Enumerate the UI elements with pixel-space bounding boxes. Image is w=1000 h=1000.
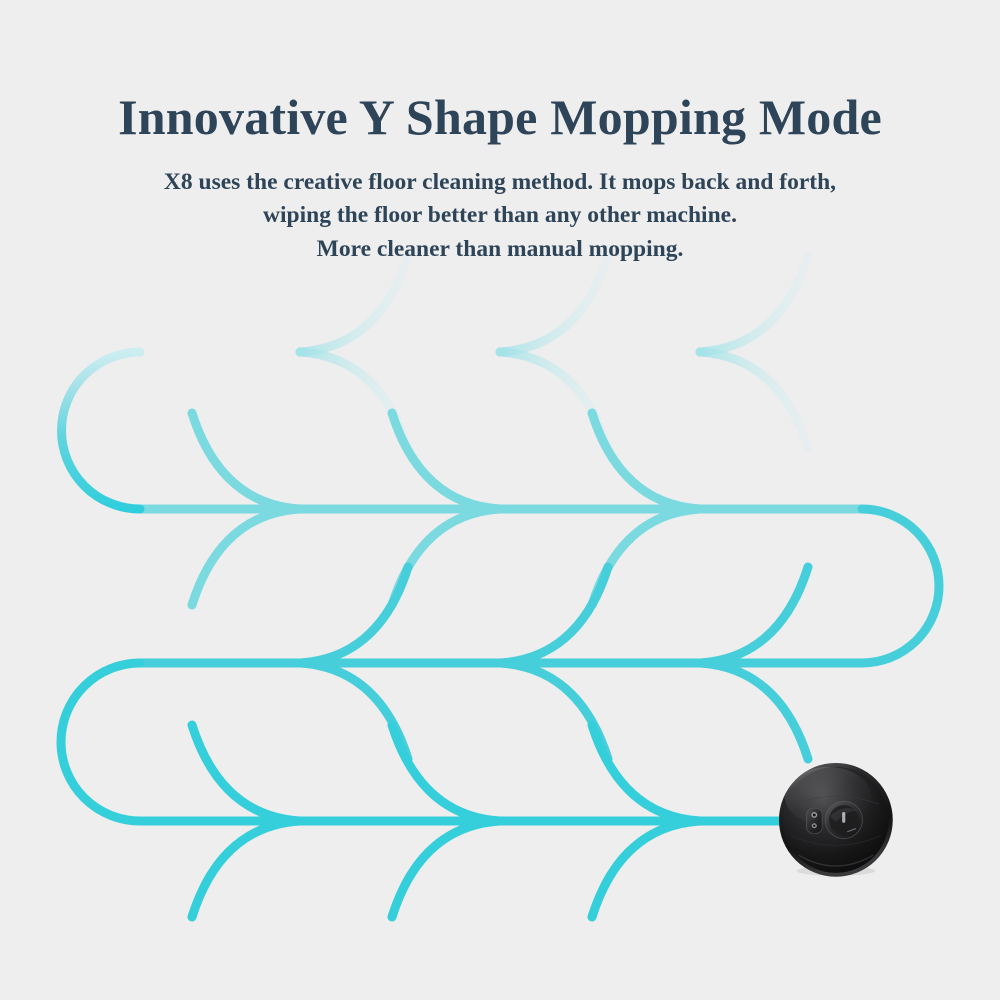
sensor-dot-upper-pupil bbox=[813, 814, 816, 817]
subtitle-line-2: wiping the floor better than any other m… bbox=[0, 199, 1000, 232]
text-block: Innovative Y Shape Mopping Mode X8 uses … bbox=[0, 0, 1000, 266]
y-branch-row-4-1-up bbox=[192, 725, 300, 821]
y-branch-row-3-2-up bbox=[500, 567, 608, 663]
subtitle-line-1: X8 uses the creative floor cleaning meth… bbox=[0, 166, 1000, 199]
y-branch-row-4-3-down bbox=[592, 821, 700, 917]
y-branch-row-1-2-up bbox=[500, 256, 608, 352]
y-branch-row-4-2-up bbox=[392, 725, 500, 821]
turn-right-1 bbox=[862, 509, 939, 663]
y-branch-row-3-3-down bbox=[700, 663, 808, 759]
y-branch-row-3-1-down bbox=[300, 663, 408, 759]
turn-left-1 bbox=[62, 352, 141, 509]
subtitle: X8 uses the creative floor cleaning meth… bbox=[0, 166, 1000, 266]
y-branch-row-1-3-down bbox=[700, 352, 808, 448]
y-branch-row-3-1-up bbox=[300, 567, 408, 663]
y-branch-row-2-2-up bbox=[392, 413, 500, 509]
y-branch-row-4-3-up bbox=[592, 725, 700, 821]
y-branch-row-4-2-down bbox=[392, 821, 500, 917]
y-branch-row-1-2-down bbox=[500, 352, 608, 448]
page-title: Innovative Y Shape Mopping Mode bbox=[0, 0, 1000, 144]
sensor-module bbox=[807, 808, 823, 834]
robot-vacuum-x8 bbox=[777, 761, 895, 879]
y-branch-row-4-1-down bbox=[192, 821, 300, 917]
y-branch-row-2-3-up bbox=[592, 413, 700, 509]
y-branch-row-3-2-down bbox=[500, 663, 608, 759]
y-branch-row-2-1-down bbox=[192, 509, 300, 605]
y-branch-row-2-2-down bbox=[392, 509, 500, 605]
promo-banner: Innovative Y Shape Mopping Mode X8 uses … bbox=[0, 0, 1000, 1000]
y-branch-row-2-1-up bbox=[192, 413, 300, 509]
y-branch-row-2-3-down bbox=[592, 509, 700, 605]
y-branch-row-3-3-up bbox=[700, 567, 808, 663]
turn-left-2 bbox=[61, 663, 140, 821]
y-branch-row-1-3-up bbox=[700, 256, 808, 352]
y-branch-row-1-1-up bbox=[300, 256, 408, 352]
sensor-dot-lower-pupil bbox=[813, 825, 815, 827]
subtitle-line-3: More cleaner than manual mopping. bbox=[0, 233, 1000, 266]
y-branch-row-1-1-down bbox=[300, 352, 408, 448]
